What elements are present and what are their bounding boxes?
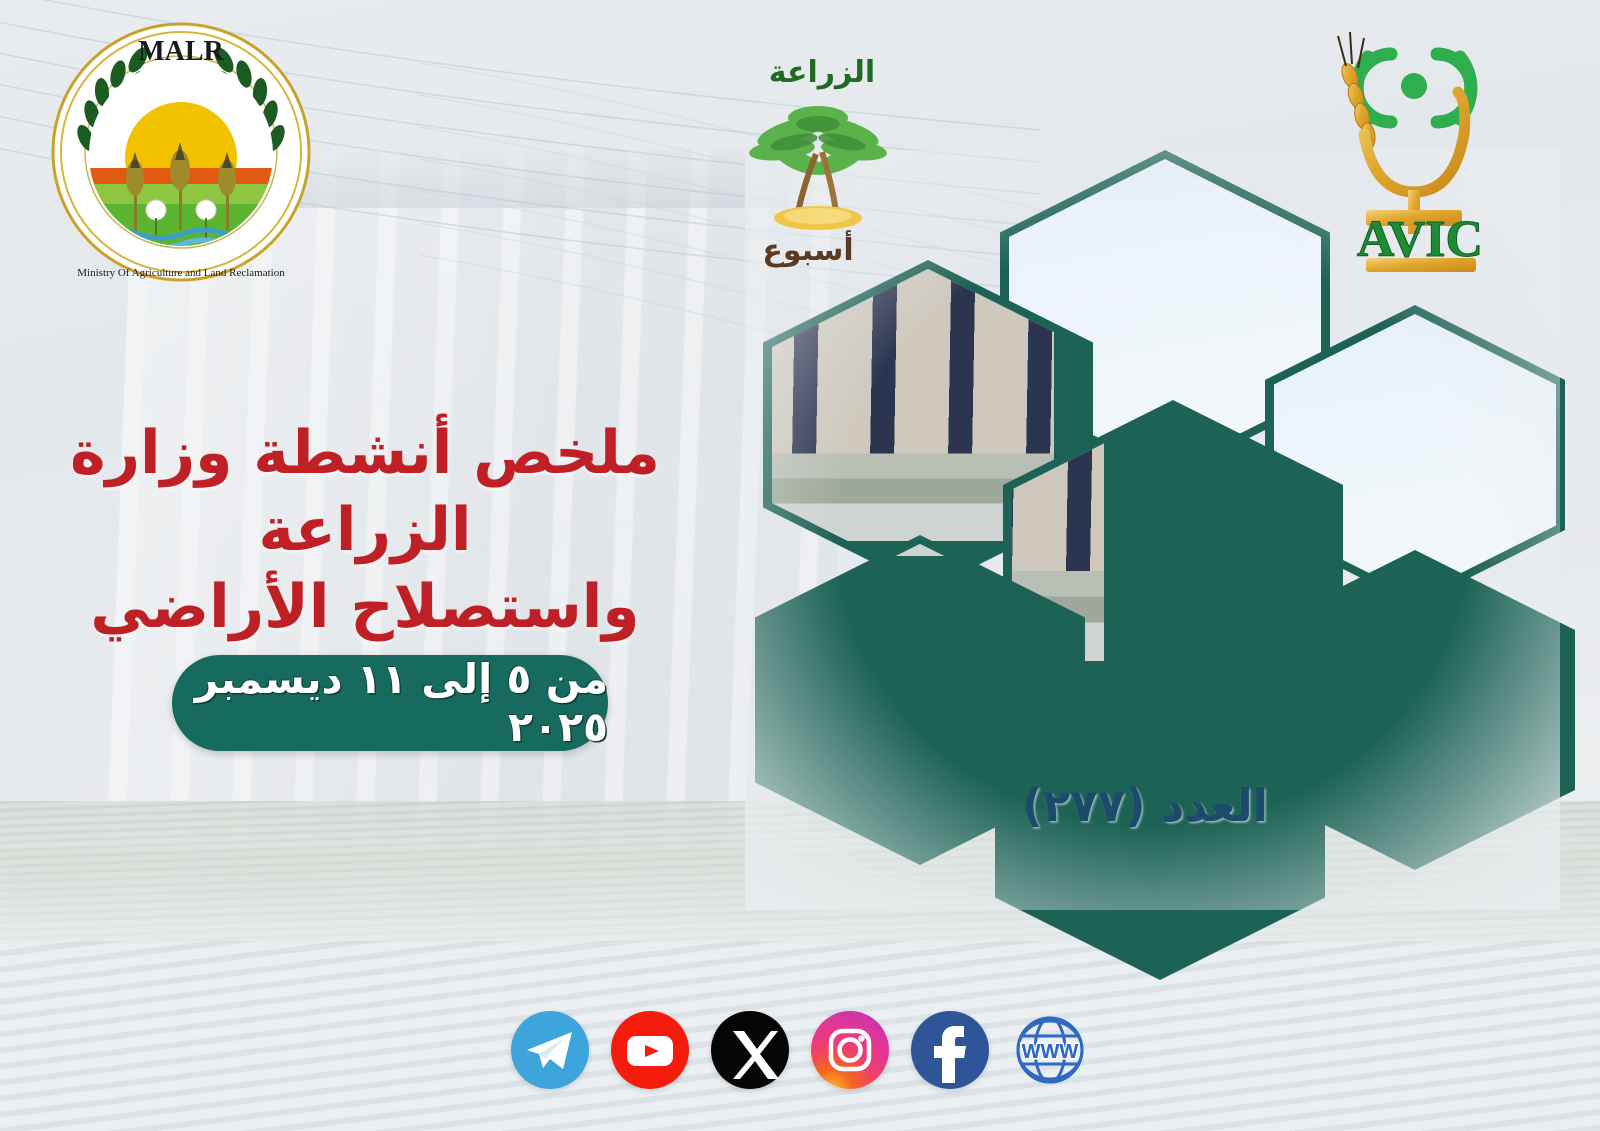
x-twitter-icon[interactable]: [711, 1011, 789, 1089]
date-range-badge: من ٥ إلى ١١ ديسمبر ٢٠٢٥: [172, 655, 608, 751]
week-logo-text-top: الزراعة: [769, 55, 875, 90]
malr-english-caption: Ministry Of Agriculture and Land Reclama…: [77, 267, 285, 279]
youtube-icon[interactable]: [611, 1011, 689, 1089]
instagram-icon[interactable]: [811, 1011, 889, 1089]
avic-acronym-text: AVIC: [1357, 211, 1483, 268]
week-logo-text-bottom: أسبوع: [762, 230, 853, 268]
agriculture-week-palm-logo: الزراعة أسبوع: [730, 46, 905, 274]
poster-canvas: MALR Ministry Of Agriculture and Land Re…: [0, 0, 1600, 1131]
malr-ministry-seal-logo: MALR Ministry Of Agriculture and Land Re…: [46, 18, 316, 286]
facebook-icon[interactable]: [911, 1011, 989, 1089]
avic-logo: AVIC: [1298, 14, 1530, 276]
page-title-line-1: ملخص أنشطة وزارة الزراعة: [35, 415, 695, 569]
page-title-line-2: واستصلاح الأراضي: [35, 569, 695, 646]
telegram-icon[interactable]: [511, 1011, 589, 1089]
svg-text:WWW: WWW: [1022, 1041, 1079, 1063]
social-media-bar: WWW WWW: [0, 1011, 1600, 1089]
website-www-icon[interactable]: WWW WWW: [1011, 1011, 1089, 1089]
malr-acronym: MALR: [138, 36, 224, 67]
issue-number-label: العدد (٢٧٧): [1022, 779, 1268, 832]
page-title: ملخص أنشطة وزارة الزراعة واستصلاح الأراض…: [35, 415, 695, 645]
date-range-text: من ٥ إلى ١١ ديسمبر ٢٠٢٥: [172, 655, 608, 751]
